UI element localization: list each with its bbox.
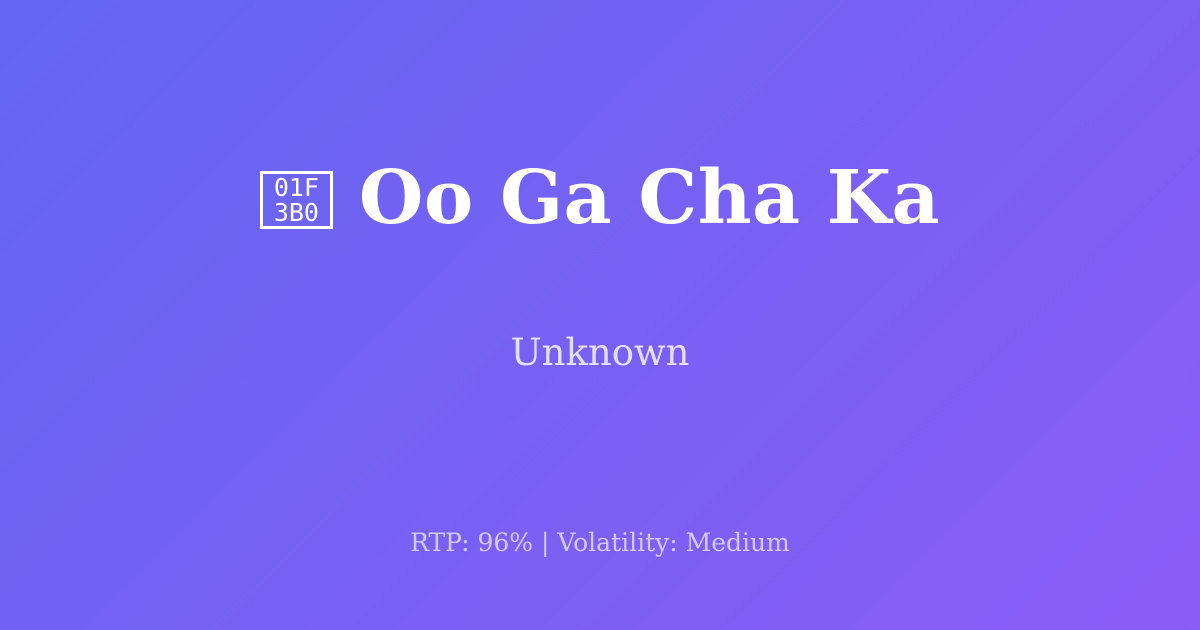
rtp-volatility-text: RTP: 96% | Volatility: Medium [410,528,790,558]
slot-machine-icon-hex-top: 01F [274,175,319,200]
provider-subtitle: Unknown [510,333,689,374]
slot-machine-icon-hex-bottom: 3B0 [274,200,319,225]
game-preview-card: 01F 3B0 Oo Ga Cha Ka Unknown RTP: 96% | … [0,0,1200,630]
hero-section: 01F 3B0 Oo Ga Cha Ka Unknown [0,0,1200,500]
title-row: 01F 3B0 Oo Ga Cha Ka [260,110,940,287]
footer-meta: RTP: 96% | Volatility: Medium [0,528,1200,558]
slot-machine-icon: 01F 3B0 [260,171,333,229]
page-title: Oo Ga Cha Ka [359,160,940,238]
